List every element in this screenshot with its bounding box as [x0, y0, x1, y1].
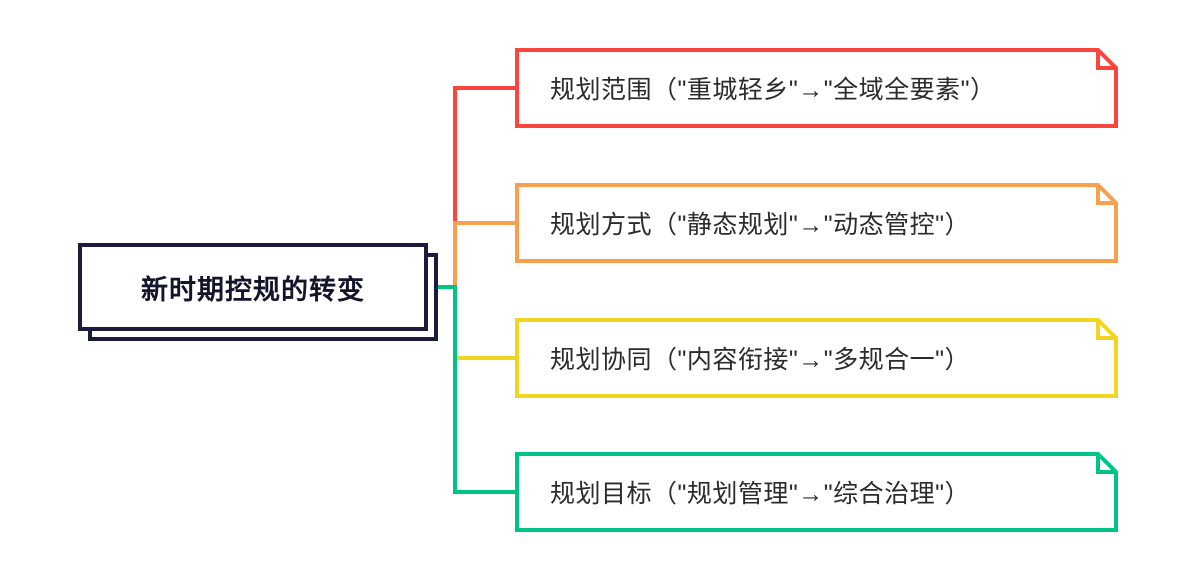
branch-node-label: 规划协同（"内容衔接"→"多规合一"） — [550, 318, 970, 398]
connector-planning-coordination — [428, 287, 515, 358]
branch-node-label: 规划目标（"规划管理"→"综合治理"） — [550, 452, 970, 532]
root-node[interactable]: 新时期控规的转变 — [78, 243, 428, 331]
branch-node-planning-scope[interactable]: 规划范围（"重城轻乡"→"全域全要素"） — [515, 48, 1118, 128]
connector-planning-scope — [428, 88, 515, 287]
mindmap-canvas: 新时期控规的转变 规划范围（"重城轻乡"→"全域全要素"）规划方式（"静态规划"… — [0, 0, 1200, 582]
branch-node-planning-goal[interactable]: 规划目标（"规划管理"→"综合治理"） — [515, 452, 1118, 532]
branch-node-planning-method[interactable]: 规划方式（"静态规划"→"动态管控"） — [515, 183, 1118, 263]
connector-planning-method — [428, 223, 515, 287]
branch-node-label: 规划范围（"重城轻乡"→"全域全要素"） — [550, 48, 996, 128]
root-node-front-card: 新时期控规的转变 — [78, 243, 428, 331]
branch-node-planning-coordination[interactable]: 规划协同（"内容衔接"→"多规合一"） — [515, 318, 1118, 398]
root-node-label: 新时期控规的转变 — [141, 268, 365, 307]
branch-node-label: 规划方式（"静态规划"→"动态管控"） — [550, 183, 970, 263]
connector-planning-goal — [428, 287, 515, 492]
